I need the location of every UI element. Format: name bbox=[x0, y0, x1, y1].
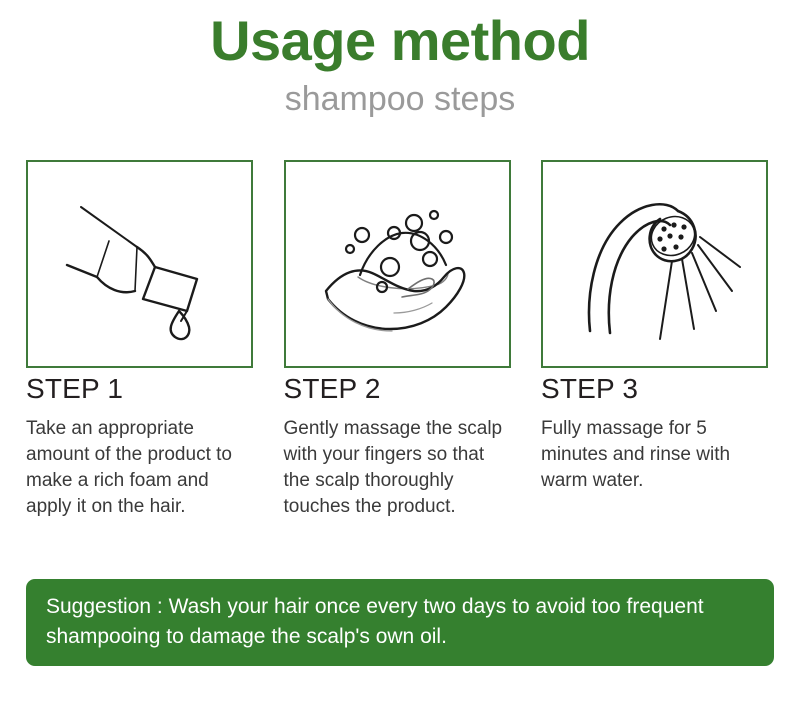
step-3-body: Fully massage for 5 minutes and rinse wi… bbox=[541, 406, 768, 494]
step-2-text: STEP 2 Gently massage the scalp with you… bbox=[284, 372, 511, 520]
step-1-illustration-card bbox=[26, 160, 253, 368]
hand-with-foam-bubbles-icon bbox=[302, 179, 492, 349]
suggestion-banner: Suggestion : Wash your hair once every t… bbox=[26, 579, 774, 666]
page-subtitle: shampoo steps bbox=[0, 74, 800, 120]
shampoo-bottle-pouring-drop-icon bbox=[45, 179, 235, 349]
step-2-body: Gently massage the scalp with your finge… bbox=[284, 406, 511, 520]
step-1-text: STEP 1 Take an appropriate amount of the… bbox=[26, 372, 253, 520]
showerhead-spraying-water-icon bbox=[560, 179, 750, 349]
illustration-cards bbox=[26, 160, 768, 368]
step-1-title: STEP 1 bbox=[26, 372, 253, 406]
header: Usage method shampoo steps bbox=[0, 0, 800, 120]
usage-method-infographic: Usage method shampoo steps bbox=[0, 0, 800, 723]
step-descriptions: STEP 1 Take an appropriate amount of the… bbox=[26, 372, 768, 520]
page-title: Usage method bbox=[0, 0, 800, 74]
suggestion-text: Suggestion : Wash your hair once every t… bbox=[46, 592, 754, 652]
step-3-title: STEP 3 bbox=[541, 372, 768, 406]
step-1-body: Take an appropriate amount of the produc… bbox=[26, 406, 253, 520]
step-3-text: STEP 3 Fully massage for 5 minutes and r… bbox=[541, 372, 768, 520]
step-2-title: STEP 2 bbox=[284, 372, 511, 406]
step-3-illustration-card bbox=[541, 160, 768, 368]
step-2-illustration-card bbox=[284, 160, 511, 368]
